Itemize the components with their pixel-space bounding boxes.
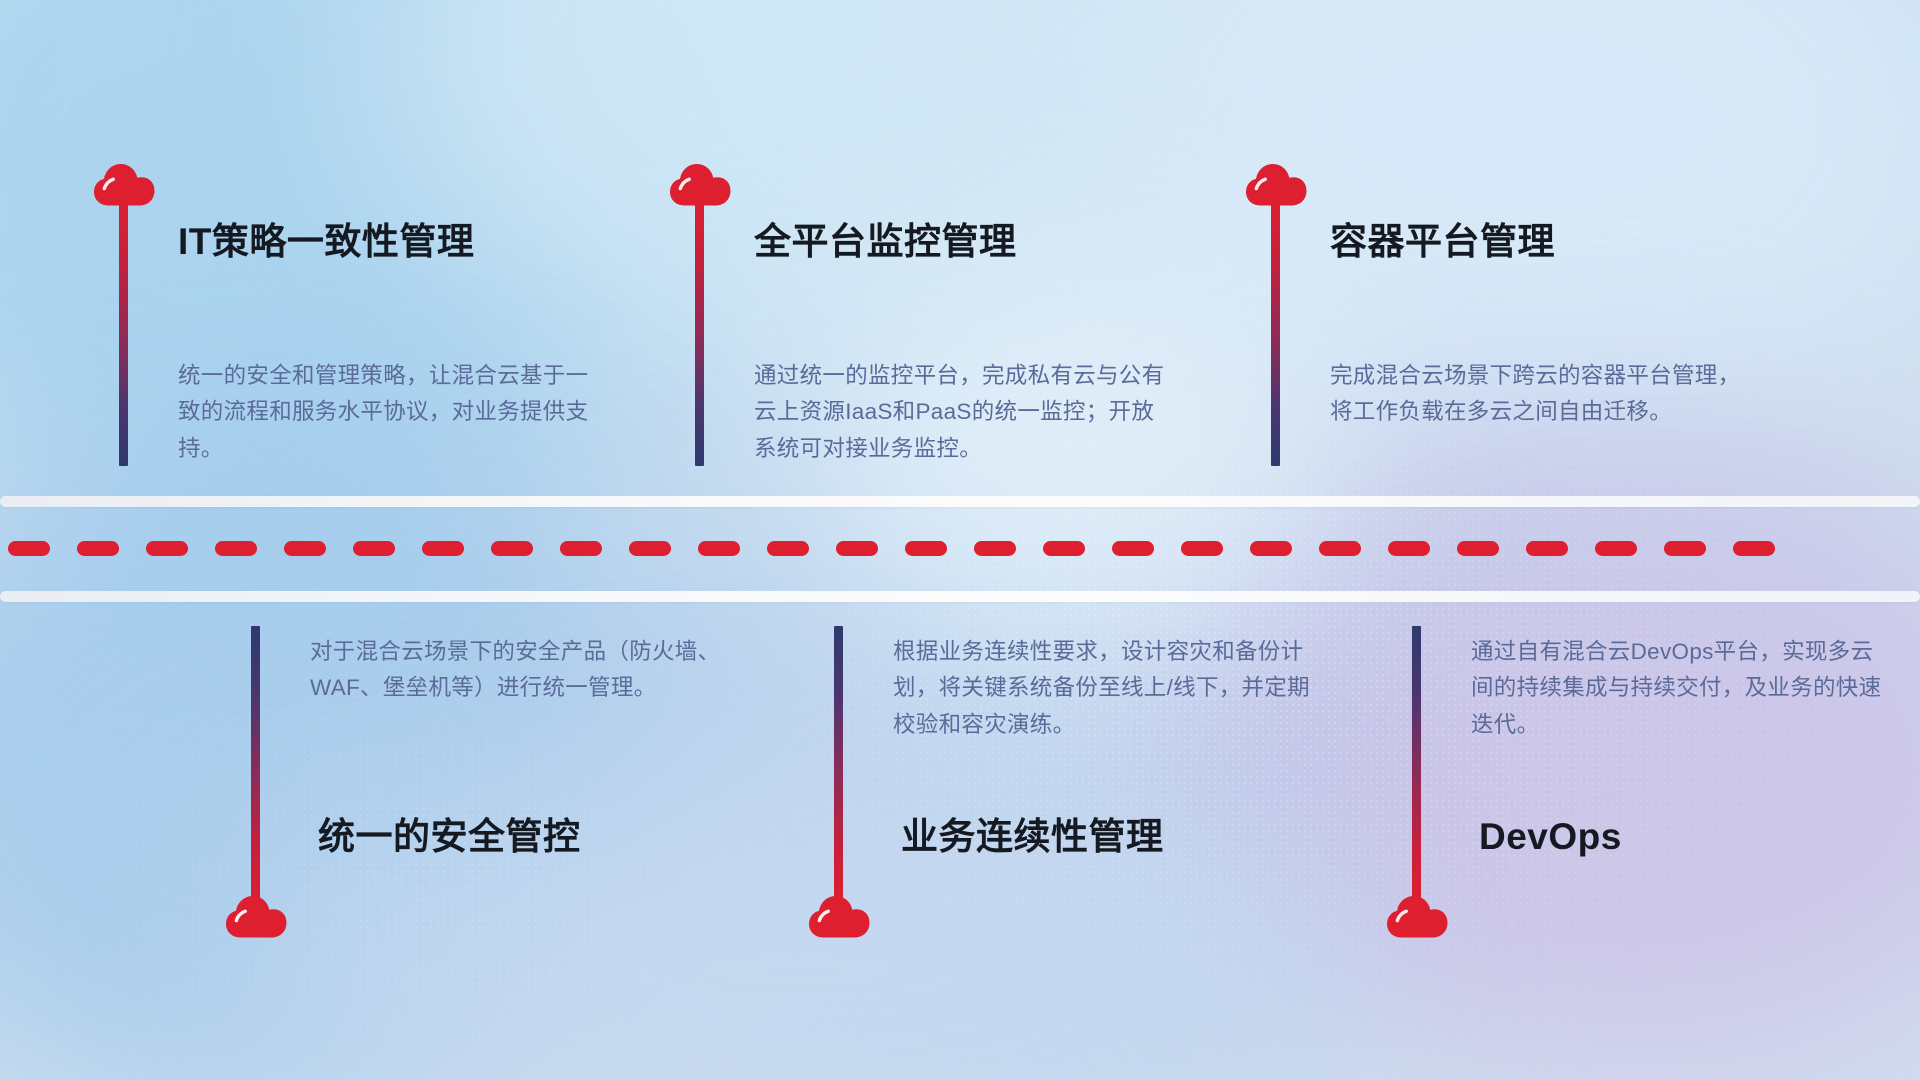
- connector-stem: [695, 202, 704, 466]
- divider-dash: [1457, 541, 1499, 556]
- feature-title: 全平台监控管理: [754, 220, 1017, 264]
- feature-title: 业务连续性管理: [901, 815, 1164, 859]
- divider-dash: [146, 541, 188, 556]
- divider-dash: [1319, 541, 1361, 556]
- divider-dashed-center-line: [0, 540, 1920, 556]
- divider-line-upper: [0, 496, 1920, 507]
- divider-dash: [560, 541, 602, 556]
- divider-dash: [1112, 541, 1154, 556]
- cloud-icon: [92, 160, 156, 208]
- divider-dash: [974, 541, 1016, 556]
- divider-dash: [698, 541, 740, 556]
- divider-dash: [1733, 541, 1775, 556]
- divider-dash: [422, 541, 464, 556]
- divider-dash: [1595, 541, 1637, 556]
- feature-description: 通过统一的监控平台，完成私有云与公有云上资源IaaS和PaaS的统一监控；开放系…: [754, 358, 1174, 467]
- feature-description: 统一的安全和管理策略，让混合云基于一致的流程和服务水平协议，对业务提供支持。: [178, 358, 598, 467]
- connector-stem: [1412, 626, 1421, 902]
- divider-dash: [905, 541, 947, 556]
- cloud-icon: [224, 892, 288, 940]
- divider-dash: [1664, 541, 1706, 556]
- divider-dash: [836, 541, 878, 556]
- connector-stem: [834, 626, 843, 902]
- feature-title: IT策略一致性管理: [178, 220, 474, 264]
- infographic-canvas: IT策略一致性管理 统一的安全和管理策略，让混合云基于一致的流程和服务水平协议，…: [0, 0, 1920, 1080]
- feature-description: 通过自有混合云DevOps平台，实现多云间的持续集成与持续交付，及业务的快速迭代…: [1471, 634, 1891, 743]
- cloud-icon: [807, 892, 871, 940]
- divider-dash: [1526, 541, 1568, 556]
- feature-description: 对于混合云场景下的安全产品（防火墙、WAF、堡垒机等）进行统一管理。: [310, 634, 730, 707]
- connector-stem: [119, 202, 128, 466]
- cloud-icon: [1244, 160, 1308, 208]
- feature-description: 根据业务连续性要求，设计容灾和备份计划，将关键系统备份至线上/线下，并定期校验和…: [893, 634, 1313, 743]
- feature-title: 容器平台管理: [1330, 220, 1555, 264]
- divider-dash: [1181, 541, 1223, 556]
- feature-title: 统一的安全管控: [318, 815, 581, 859]
- divider-dash: [1388, 541, 1430, 556]
- divider-dash: [77, 541, 119, 556]
- divider-dash: [284, 541, 326, 556]
- divider-dash: [629, 541, 671, 556]
- cloud-icon: [668, 160, 732, 208]
- feature-title: DevOps: [1479, 815, 1622, 859]
- connector-stem: [1271, 202, 1280, 466]
- divider-line-lower: [0, 591, 1920, 602]
- divider-dash: [8, 541, 50, 556]
- feature-description: 完成混合云场景下跨云的容器平台管理，将工作负载在多云之间自由迁移。: [1330, 358, 1750, 431]
- divider-dash: [1250, 541, 1292, 556]
- divider-dash: [1043, 541, 1085, 556]
- divider-dash: [767, 541, 809, 556]
- divider-dash: [215, 541, 257, 556]
- divider-dash: [353, 541, 395, 556]
- cloud-icon: [1385, 892, 1449, 940]
- divider-dash: [491, 541, 533, 556]
- connector-stem: [251, 626, 260, 902]
